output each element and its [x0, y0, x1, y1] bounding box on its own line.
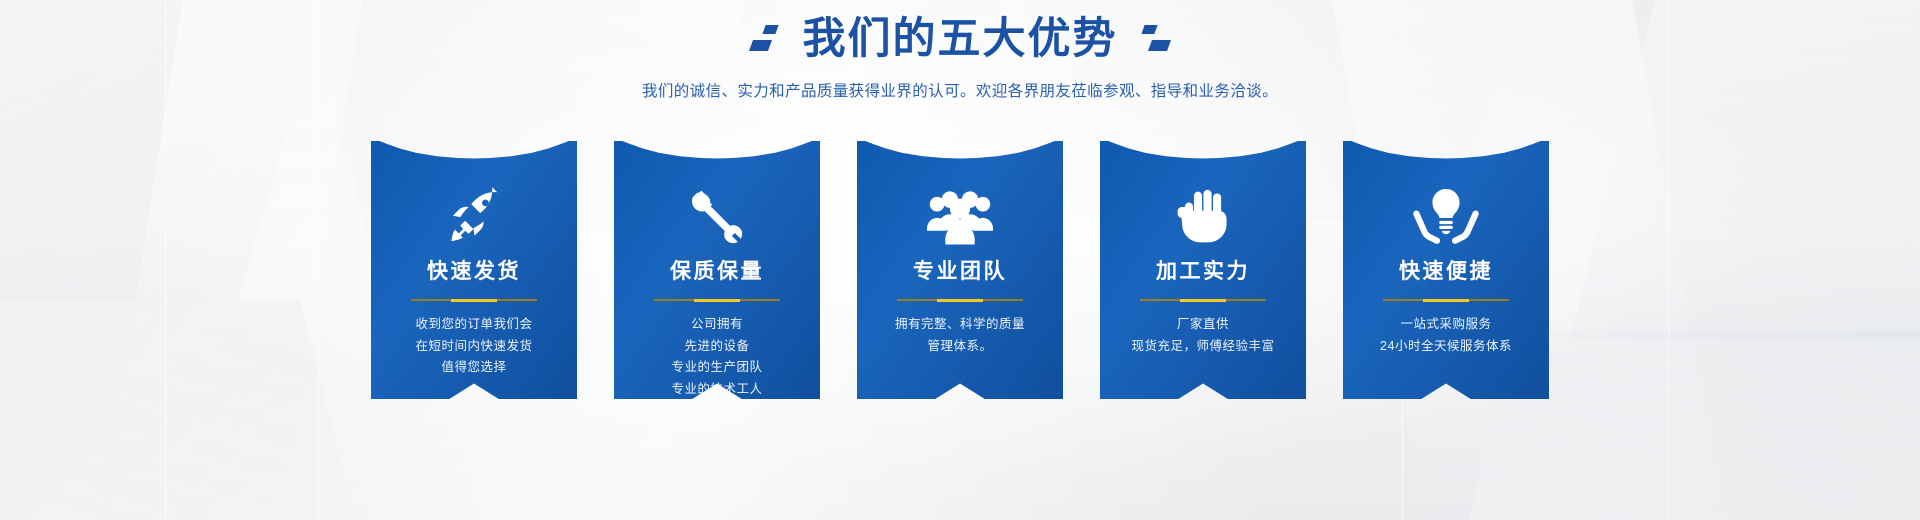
hands-lightbulb-icon: [1343, 187, 1549, 247]
advantage-card-desc: 收到您的订单我们会 在短时间内快速发货 值得您选择: [371, 314, 577, 379]
advantage-card-title: 加工实力: [1100, 259, 1306, 284]
desc-line: 管理体系。: [867, 336, 1053, 358]
wrench-screwdriver-icon: [614, 187, 820, 247]
desc-line: 收到您的订单我们会: [381, 314, 567, 336]
desc-line: 厂家直供: [1110, 314, 1296, 336]
title-divider: [1383, 299, 1509, 301]
advantage-card-list: 快速发货 收到您的订单我们会 在短时间内快速发货 值得您选择 保质保量 公司拥有…: [0, 141, 1920, 399]
advantage-card-title: 专业团队: [857, 259, 1063, 284]
fist-icon: [1100, 187, 1306, 247]
desc-line: 现货充足，师傅经验丰富: [1110, 336, 1296, 358]
team-people-icon: [857, 187, 1063, 247]
desc-line: 值得您选择: [381, 357, 567, 379]
desc-line: 专业的技术工人: [624, 379, 810, 401]
advantage-card[interactable]: 专业团队 拥有完整、科学的质量 管理体系。: [857, 141, 1063, 399]
desc-line: 拥有完整、科学的质量: [867, 314, 1053, 336]
rocket-icon: [371, 187, 577, 247]
advantage-card[interactable]: 加工实力 厂家直供 现货充足，师傅经验丰富: [1100, 141, 1306, 399]
advantage-card-title: 快速发货: [371, 259, 577, 284]
title-divider: [411, 299, 537, 301]
advantage-card[interactable]: 保质保量 公司拥有 先进的设备 专业的生产团队 专业的技术工人: [614, 141, 820, 399]
advantage-card-desc: 一站式采购服务 24小时全天候服务体系: [1343, 314, 1549, 357]
desc-line: 专业的生产团队: [624, 357, 810, 379]
spark-left-icon: [747, 24, 781, 54]
page-title: 我们的五大优势: [803, 14, 1118, 65]
desc-line: 24小时全天候服务体系: [1353, 336, 1539, 358]
advantage-card-desc: 厂家直供 现货充足，师傅经验丰富: [1100, 314, 1306, 357]
advantage-card-desc: 拥有完整、科学的质量 管理体系。: [857, 314, 1063, 357]
page-subtitle: 我们的诚信、实力和产品质量获得业界的认可。欢迎各界朋友莅临参观、指导和业务洽谈。: [0, 79, 1920, 101]
title-divider: [897, 299, 1023, 301]
desc-line: 先进的设备: [624, 336, 810, 358]
spark-right-icon: [1140, 24, 1174, 54]
desc-line: 在短时间内快速发货: [381, 336, 567, 358]
advantage-card-desc: 公司拥有 先进的设备 专业的生产团队 专业的技术工人: [614, 314, 820, 400]
advantage-card-title: 快速便捷: [1343, 259, 1549, 284]
advantage-card[interactable]: 快速发货 收到您的订单我们会 在短时间内快速发货 值得您选择: [371, 141, 577, 399]
title-divider: [1140, 299, 1266, 301]
desc-line: 一站式采购服务: [1353, 314, 1539, 336]
title-divider: [654, 299, 780, 301]
advantage-card[interactable]: 快速便捷 一站式采购服务 24小时全天候服务体系: [1343, 141, 1549, 399]
section-header: 我们的五大优势 我们的诚信、实力和产品质量获得业界的认可。欢迎各界朋友莅临参观、…: [0, 14, 1920, 101]
title-row: 我们的五大优势: [0, 14, 1920, 65]
advantage-card-title: 保质保量: [614, 259, 820, 284]
desc-line: 公司拥有: [624, 314, 810, 336]
